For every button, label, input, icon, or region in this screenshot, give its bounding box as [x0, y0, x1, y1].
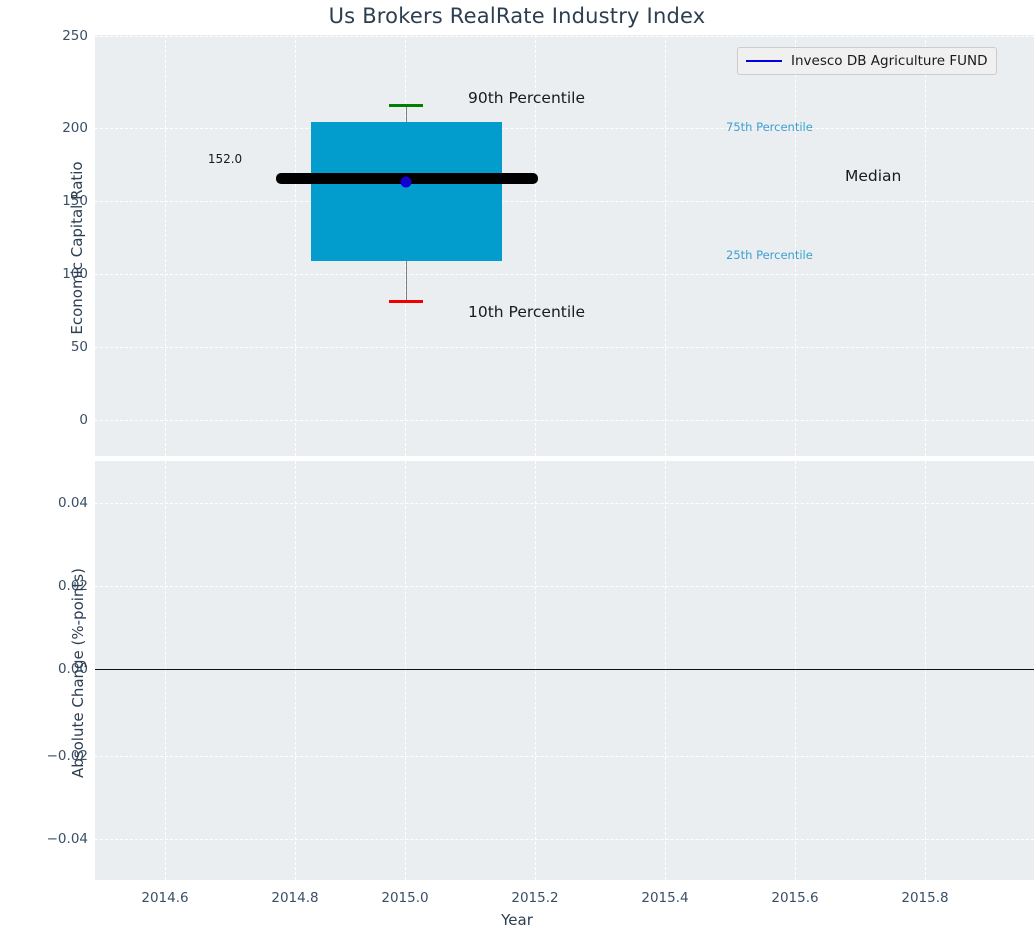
gridline-y-100: [95, 274, 1034, 275]
zero-reference-line: [95, 669, 1034, 670]
gridline-x2-2015-8: [925, 461, 926, 880]
gridline-x-2015-4: [665, 35, 666, 456]
gridline-y-250: [95, 36, 1034, 37]
annotation-10th-percentile: 10th Percentile: [468, 303, 585, 321]
gridline-y-0-02: [95, 586, 1034, 587]
panel-absolute-change: [95, 461, 1034, 880]
iqr-box: [311, 122, 502, 261]
xtick-2015-6: 2015.6: [771, 890, 818, 906]
ytick-top-0: 0: [79, 412, 88, 428]
gridline-y-0: [95, 420, 1034, 421]
chart-figure: Us Brokers RealRate Industry Index 152.0: [0, 0, 1034, 942]
gridline-x2-2015-4: [665, 461, 666, 880]
annotation-median: Median: [845, 167, 901, 185]
xtick-2014-6: 2014.6: [141, 890, 188, 906]
gridline-x-2014-6: [165, 35, 166, 456]
ylabel-economic-capital-ratio: Economic Capital Ratio: [68, 98, 86, 398]
annotation-75th-percentile: 75th Percentile: [726, 120, 813, 134]
xtick-2015-0: 2015.0: [381, 890, 428, 906]
gridline-y-200: [95, 128, 1034, 129]
median-value-label: 152.0: [208, 152, 242, 166]
gridline-x-2015-6: [795, 35, 796, 456]
xtick-2015-4: 2015.4: [641, 890, 688, 906]
gridline-y-neg0-02: [95, 756, 1034, 757]
gridline-y-neg0-04: [95, 839, 1034, 840]
gridline-y-50: [95, 347, 1034, 348]
ylabel-absolute-change: Absolute Change (%-points): [69, 473, 87, 873]
chart-title: Us Brokers RealRate Industry Index: [0, 4, 1034, 28]
legend-line-icon: [746, 60, 782, 62]
annotation-90th-percentile: 90th Percentile: [468, 89, 585, 107]
gridline-y-150: [95, 201, 1034, 202]
annotation-25th-percentile: 25th Percentile: [726, 248, 813, 262]
xlabel-year: Year: [0, 911, 1034, 929]
ytick-top-250: 250: [62, 28, 88, 44]
gridline-x2-2015-2: [535, 461, 536, 880]
gridline-x2-2015-0: [405, 461, 406, 880]
gridline-y-0-04: [95, 503, 1034, 504]
gridline-x2-2014-8: [295, 461, 296, 880]
whisker-cap-p10: [389, 300, 423, 303]
xtick-2015-2: 2015.2: [511, 890, 558, 906]
gridline-x-2014-8: [295, 35, 296, 456]
xtick-2015-8: 2015.8: [901, 890, 948, 906]
fund-marker-dot[interactable]: [401, 177, 412, 188]
panel-economic-capital-ratio: 152.0 90th Percentile 10th Percentile 75…: [95, 35, 1034, 456]
chart-legend[interactable]: Invesco DB Agriculture FUND: [737, 47, 997, 75]
gridline-x2-2015-6: [795, 461, 796, 880]
gridline-x-2015-8: [925, 35, 926, 456]
legend-entry-label: Invesco DB Agriculture FUND: [791, 53, 987, 69]
xtick-2014-8: 2014.8: [271, 890, 318, 906]
whisker-cap-p90: [389, 104, 423, 107]
gridline-x2-2014-6: [165, 461, 166, 880]
